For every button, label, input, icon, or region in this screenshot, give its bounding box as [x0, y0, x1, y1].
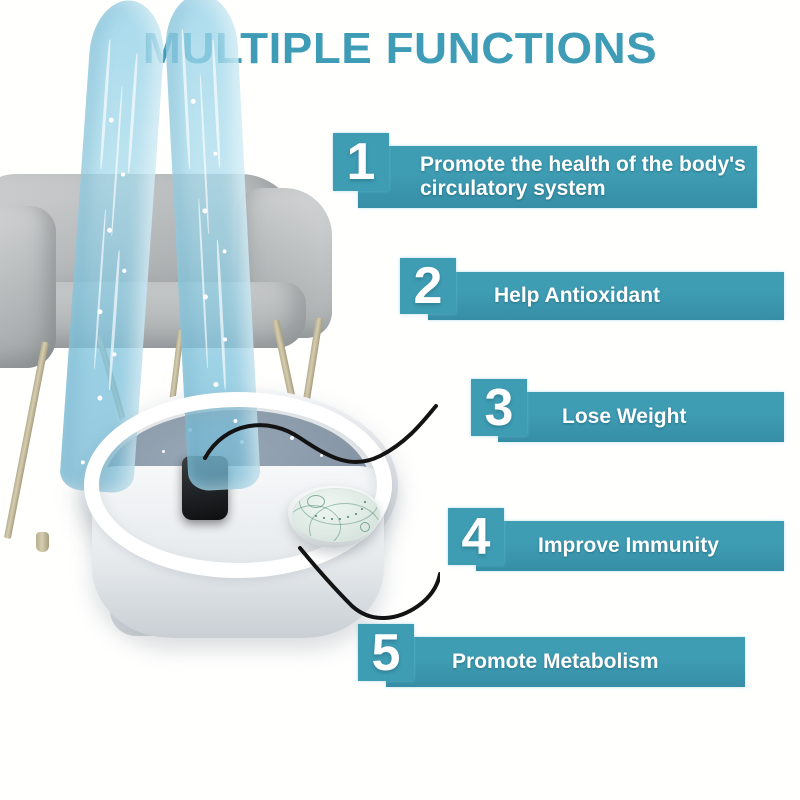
chair-leg-front-left — [4, 341, 49, 539]
feature-label-1: Promote the health of the body's circula… — [420, 153, 746, 200]
feature-bar-2[interactable]: Help Antioxidant — [428, 272, 784, 320]
feature-bar-4[interactable]: Improve Immunity — [476, 521, 784, 571]
chair-leg-foot-cap — [36, 532, 49, 552]
feature-bar-1[interactable]: Promote the health of the body's circula… — [358, 146, 757, 208]
brand-logo-icon — [307, 495, 325, 508]
infographic-canvas: MULTIPLE FUNCTIONS — [0, 0, 800, 800]
control-pod-body — [288, 486, 380, 548]
feature-bar-5[interactable]: Promote Metabolism — [386, 637, 745, 687]
feature-badge-4: 4 — [448, 508, 504, 565]
feature-number-1: 1 — [333, 136, 389, 188]
feature-number-4: 4 — [448, 511, 504, 563]
control-pod[interactable] — [286, 470, 382, 552]
power-button-icon[interactable] — [360, 522, 370, 532]
feature-label-2: Help Antioxidant — [494, 284, 660, 308]
feature-bar-3[interactable]: Lose Weight — [498, 392, 784, 442]
feature-badge-1: 1 — [333, 133, 389, 191]
feature-badge-3: 3 — [471, 379, 527, 436]
feature-label-5: Promote Metabolism — [452, 650, 659, 674]
feature-badge-5: 5 — [358, 624, 414, 681]
control-pod-faceplate — [292, 488, 380, 542]
feature-badge-2: 2 — [400, 258, 456, 314]
feature-number-3: 3 — [471, 382, 527, 434]
feature-number-2: 2 — [400, 260, 456, 312]
feature-label-3: Lose Weight — [562, 405, 686, 429]
feature-label-4: Improve Immunity — [538, 534, 719, 558]
feature-number-5: 5 — [358, 627, 414, 679]
product-photo — [0, 170, 440, 640]
